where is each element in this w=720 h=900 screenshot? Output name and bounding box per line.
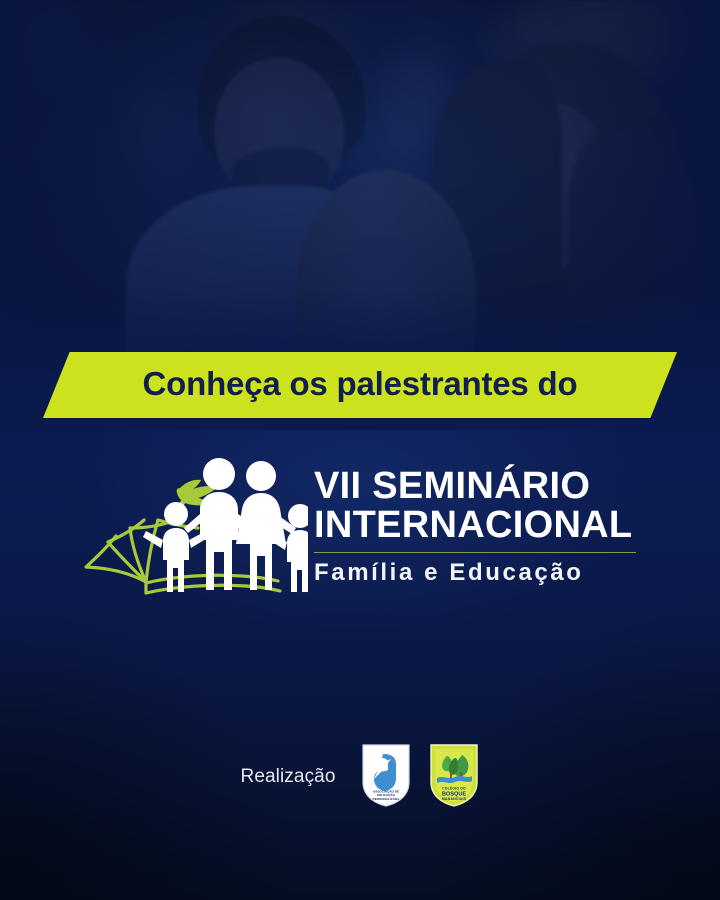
event-logo: VII SEMINÁRIO INTERNACIONAL Família e Ed… [72, 452, 672, 600]
org-logo-aep: ASSOCIAÇÃO DE EDUCAÇÃO PERSONALIZADA [360, 742, 412, 813]
footer-credits: Realização ASSOCIAÇÃO DE EDUCAÇÃO PERSON… [0, 742, 720, 812]
realization-label: Realização [241, 766, 336, 788]
event-title-line-1: VII SEMINÁRIO [314, 467, 636, 506]
org-aep-line-3: PERSONALIZADA [372, 796, 399, 800]
poster-canvas: Família sorrindo: homem, criança e mulhe… [0, 0, 720, 900]
org-bosque-line-3: MANANCIAIS [441, 797, 466, 801]
headline-text: Conheça os palestrantes do [143, 365, 578, 403]
org-logo-bosque: COLÉGIO DO BOSQUE MANANCIAIS [428, 742, 480, 813]
event-title-line-2: INTERNACIONAL [314, 506, 636, 545]
event-logo-text: VII SEMINÁRIO INTERNACIONAL Família e Ed… [314, 465, 636, 587]
headline-banner: Conheça os palestrantes do [43, 352, 677, 418]
family-figures-icon [143, 458, 308, 592]
org-bosque-line-1: COLÉGIO DO [442, 785, 466, 790]
event-title-divider [314, 552, 636, 554]
event-logo-mark [72, 452, 308, 600]
event-subtitle: Família e Educação [314, 559, 636, 587]
